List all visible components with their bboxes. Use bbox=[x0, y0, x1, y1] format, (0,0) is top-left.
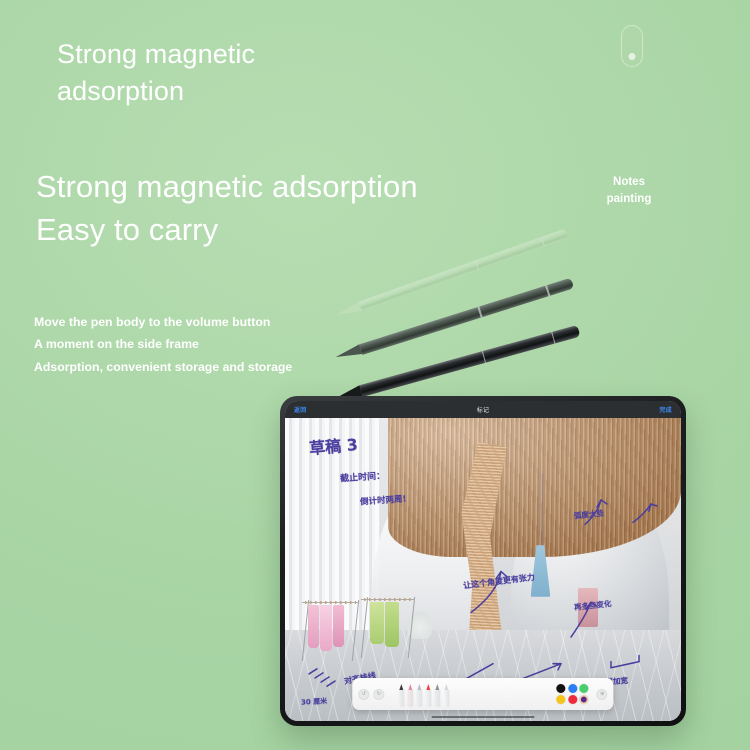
tool-thin-pen[interactable] bbox=[434, 684, 440, 707]
notes-label-line-2: painting bbox=[584, 191, 674, 208]
color-swatch-red[interactable] bbox=[568, 695, 577, 704]
notes-label-line-1: Notes bbox=[584, 174, 674, 191]
app-nav-bar: 返回 标记 完成 bbox=[285, 401, 681, 418]
garment bbox=[308, 605, 319, 649]
color-swatch-yellow[interactable] bbox=[557, 695, 566, 704]
nav-done-button[interactable]: 完成 bbox=[659, 405, 672, 414]
stylus-band bbox=[474, 260, 479, 270]
redo-button[interactable]: ↻ bbox=[373, 689, 384, 700]
tool-marker[interactable] bbox=[425, 684, 431, 707]
tool-body bbox=[443, 690, 449, 707]
clothing-rack-pink bbox=[305, 600, 356, 661]
stylus-band bbox=[481, 351, 486, 363]
sub-headline-line-1: Strong magnetic bbox=[57, 36, 477, 73]
sub-headline: Strong magnetic adsorption bbox=[57, 36, 477, 110]
description-line-2: A moment on the side frame bbox=[34, 333, 364, 355]
stylus-pen-front bbox=[334, 325, 580, 404]
tool-pencil[interactable] bbox=[416, 684, 422, 707]
color-swatch-blue[interactable] bbox=[568, 684, 577, 693]
main-headline: Strong magnetic adsorption Easy to carry bbox=[36, 165, 576, 252]
home-indicator bbox=[432, 716, 535, 719]
annotation-measure: 30 厘米 bbox=[301, 696, 328, 707]
stylus-band bbox=[551, 332, 556, 344]
color-swatch-green[interactable] bbox=[580, 684, 589, 693]
description-block: Move the pen body to the volume button A… bbox=[34, 311, 364, 378]
camera-module-icon bbox=[621, 25, 643, 67]
markup-toolbar[interactable]: ↺ ↻ ⊕ bbox=[352, 678, 613, 710]
tool-highlighter[interactable] bbox=[407, 684, 413, 707]
annotation-title: 草稿 3 bbox=[308, 431, 359, 459]
promo-canvas: Strong magnetic adsorption Strong magnet… bbox=[0, 0, 750, 750]
clothing-rack-green bbox=[364, 597, 412, 658]
hanging-string bbox=[540, 470, 541, 549]
canvas-artboard[interactable]: 草稿 3 截止时间： 倒计时两周! 让这个角度更有张力 弧度大些 再多些变化 对… bbox=[285, 418, 681, 721]
main-headline-line-2: Easy to carry bbox=[36, 208, 576, 251]
pen-tools-group[interactable] bbox=[395, 681, 449, 707]
notes-painting-label: Notes painting bbox=[584, 174, 674, 209]
color-swatch-black[interactable] bbox=[557, 684, 566, 693]
hangers bbox=[305, 601, 356, 604]
garment bbox=[333, 605, 344, 647]
color-swatch-purple[interactable] bbox=[580, 695, 589, 704]
more-options-button[interactable]: ⊕ bbox=[597, 689, 608, 700]
annotation-deadline: 截止时间： bbox=[340, 468, 386, 484]
stylus-pen-mid bbox=[334, 278, 574, 363]
tool-body bbox=[407, 690, 413, 707]
garment bbox=[370, 602, 384, 644]
garment bbox=[320, 605, 331, 651]
ceiling-shading bbox=[388, 418, 681, 557]
tablet-screen[interactable]: 返回 标记 完成 bbox=[285, 401, 681, 721]
garment bbox=[385, 602, 399, 647]
tool-fountain-pen[interactable] bbox=[398, 684, 404, 707]
nav-back-button[interactable]: 返回 bbox=[294, 405, 307, 414]
undo-button[interactable]: ↺ bbox=[358, 689, 369, 700]
tool-body bbox=[416, 690, 422, 707]
camera-lens-icon bbox=[629, 53, 636, 60]
sub-headline-line-2: adsorption bbox=[57, 73, 477, 110]
tool-eraser[interactable] bbox=[443, 684, 449, 707]
color-palette[interactable] bbox=[557, 684, 589, 705]
nav-title: 标记 bbox=[477, 405, 490, 414]
tool-body bbox=[398, 690, 404, 707]
main-headline-line-1: Strong magnetic adsorption bbox=[36, 165, 576, 208]
tablet-device: 返回 标记 完成 bbox=[280, 396, 686, 726]
stylus-band bbox=[478, 307, 483, 318]
stylus-band bbox=[545, 285, 550, 296]
tool-body bbox=[434, 690, 440, 707]
tool-body bbox=[425, 690, 431, 707]
description-line-1: Move the pen body to the volume button bbox=[34, 311, 364, 333]
stylus-band bbox=[541, 237, 546, 247]
hangers bbox=[364, 598, 412, 601]
description-line-3: Adsorption, convenient storage and stora… bbox=[34, 356, 364, 378]
